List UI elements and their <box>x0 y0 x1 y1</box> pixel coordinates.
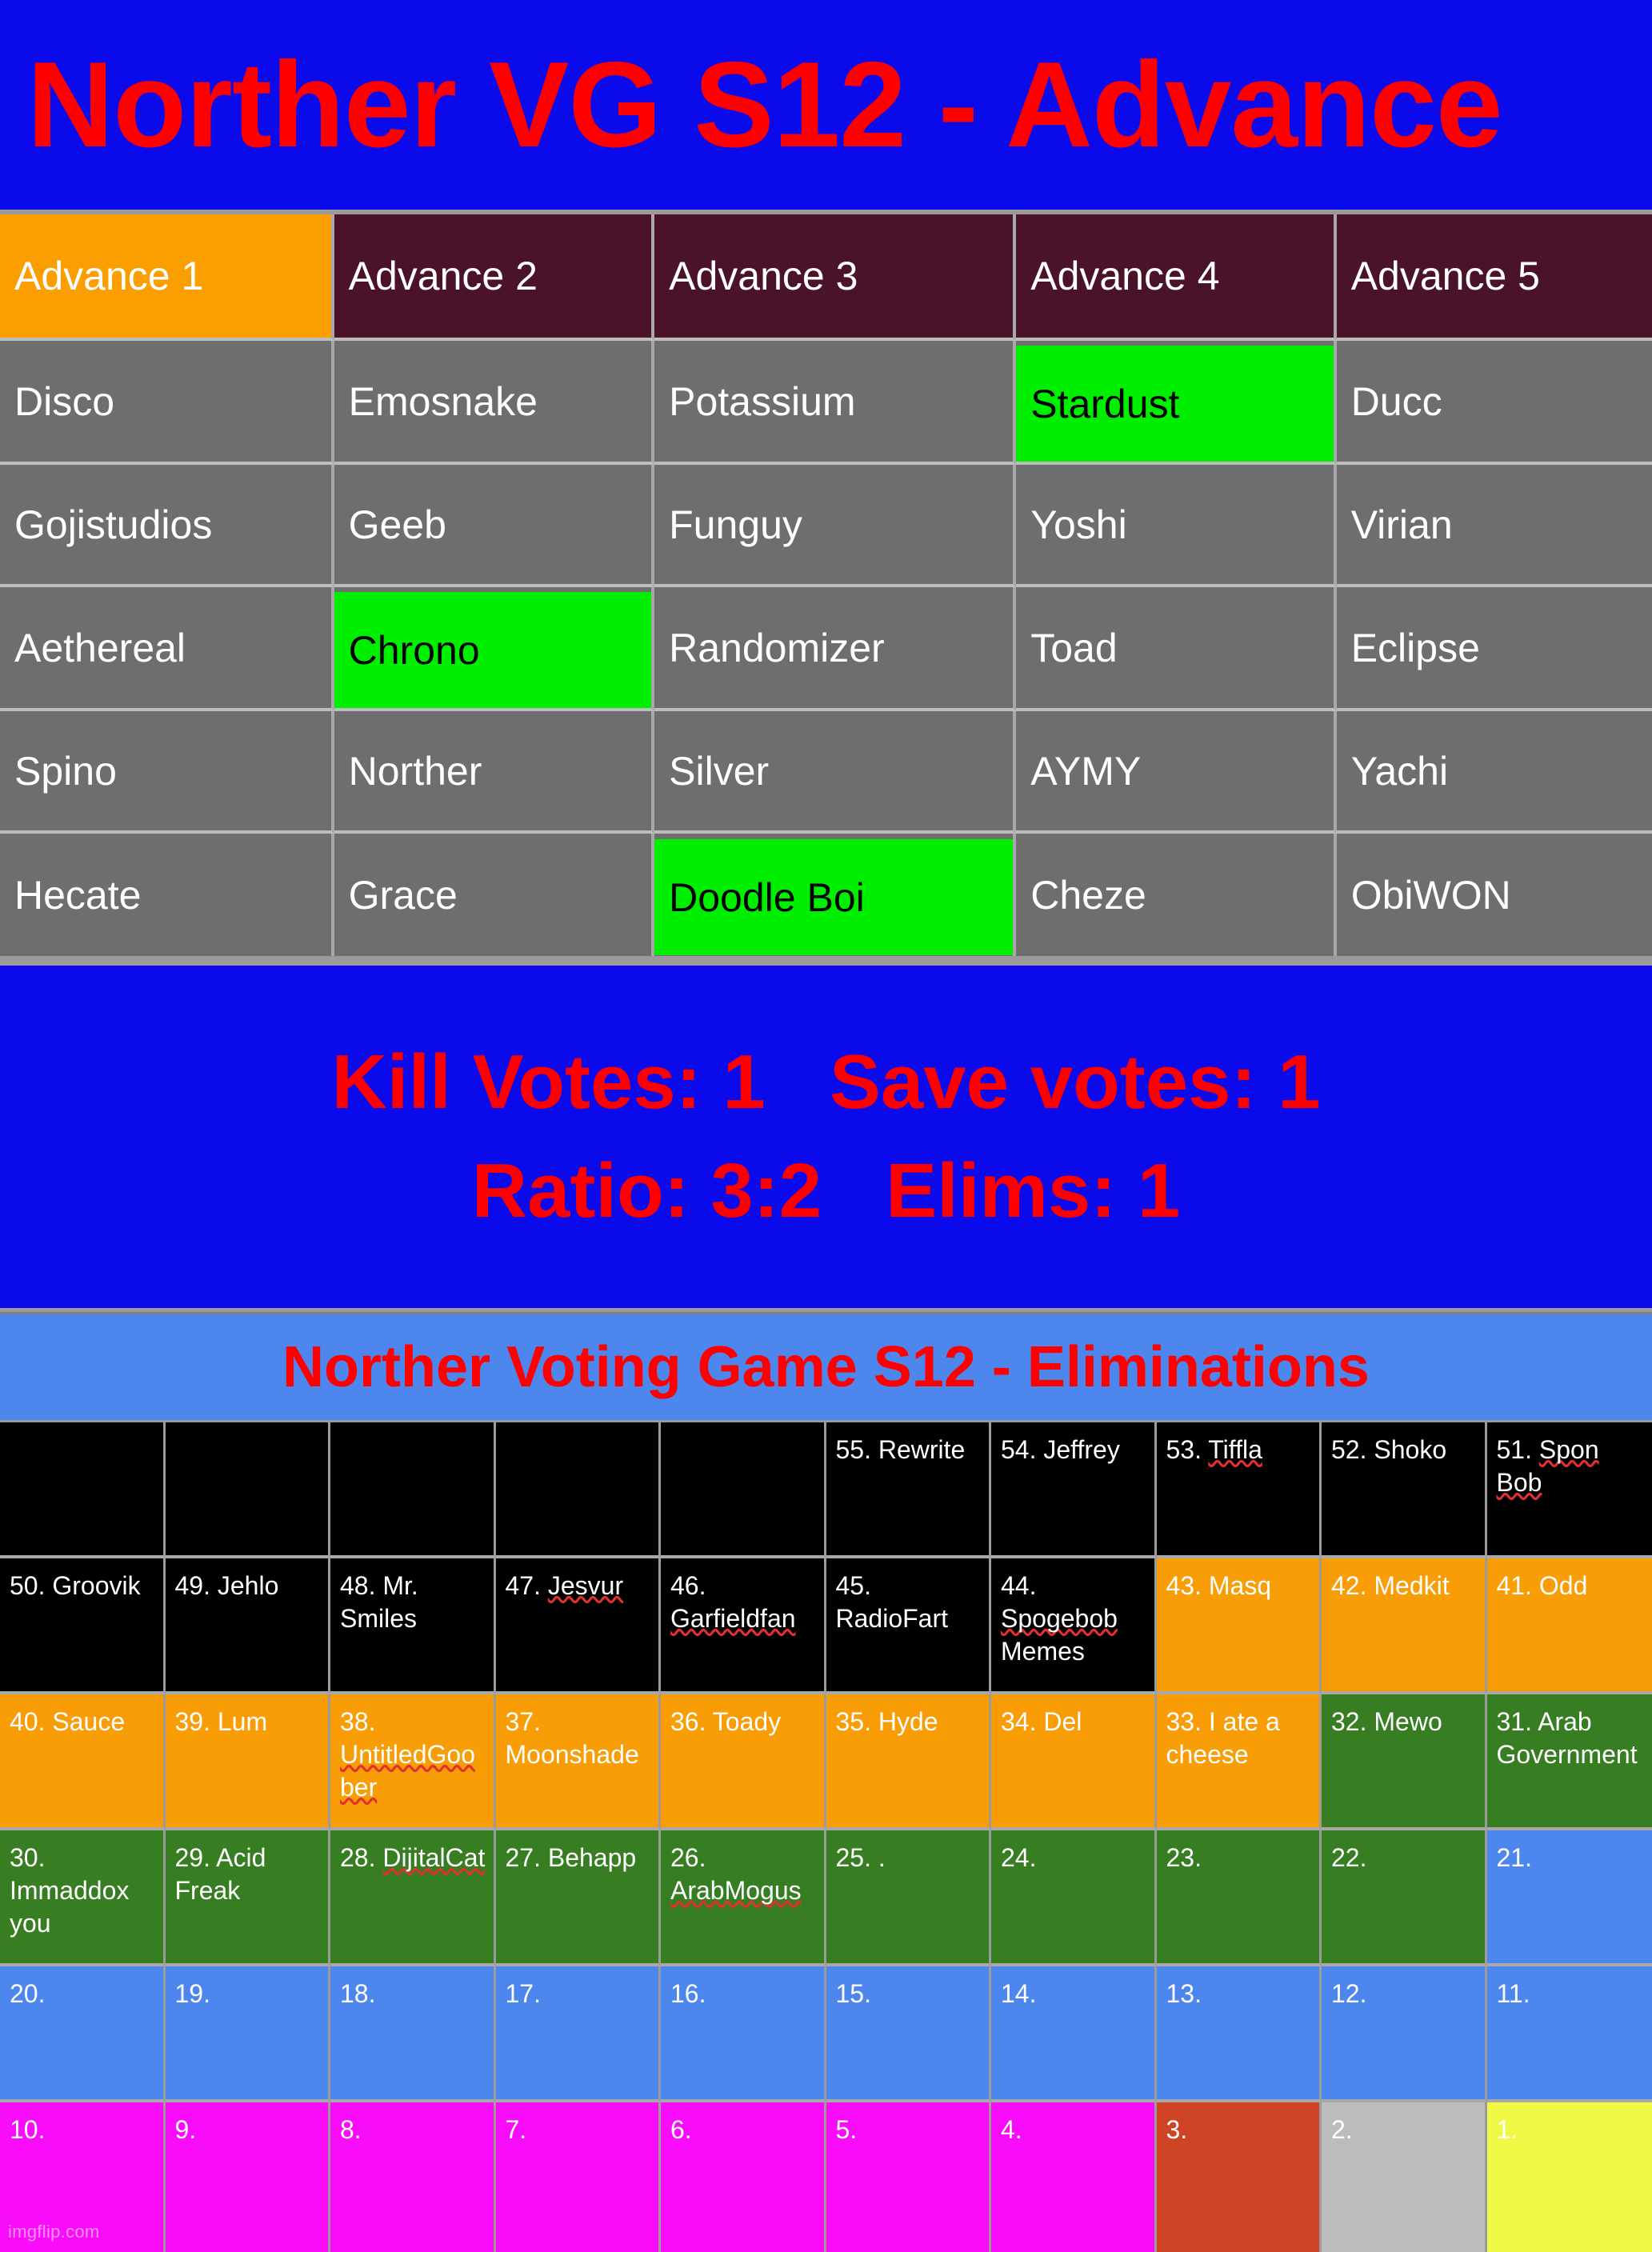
elimination-cell: 52. Shoko <box>1322 1422 1487 1558</box>
eliminations-title: Norther Voting Game S12 - Eliminations <box>282 1338 1370 1396</box>
elimination-cell: 15. <box>826 1966 992 2102</box>
elimination-cell: 35. Hyde <box>826 1694 992 1830</box>
elimination-cell: 1. <box>1487 2102 1652 2252</box>
elimination-cell: 47. Jesvur <box>496 1558 662 1694</box>
advance-row: SpinoNortherSilverAYMYYachi <box>0 711 1652 834</box>
advance-cell-highlighted: Doodle Boi <box>654 834 1016 956</box>
elimination-cell: 28. DijitalCat <box>330 1830 496 1966</box>
spellcheck-underline: DijitalCat <box>382 1843 485 1872</box>
advance-cell: Spino <box>0 711 334 834</box>
advance-column-header-3: Advance 3 <box>654 214 1016 341</box>
advance-cell: Toad <box>1016 587 1336 711</box>
elimination-cell-empty <box>0 1422 166 1558</box>
advance-header-row: Advance 1Advance 2Advance 3Advance 4Adva… <box>0 214 1652 341</box>
elimination-cell: 22. <box>1322 1830 1487 1966</box>
eliminations-grid: 55. Rewrite54. Jeffrey53. Tiffla52. Shok… <box>0 1422 1652 2252</box>
ratio-elims-line: Ratio: 3:2 Elims: 1 <box>472 1137 1181 1246</box>
advance-cell: Silver <box>654 711 1016 834</box>
elimination-cell: 45. RadioFart <box>826 1558 992 1694</box>
elimination-cell: 24. <box>991 1830 1157 1966</box>
imgflip-watermark: imgflip.com <box>8 2222 100 2242</box>
advance-cell: Ducc <box>1337 341 1652 465</box>
stats-banner: Kill Votes: 1 Save votes: 1 Ratio: 3:2 E… <box>0 966 1652 1308</box>
elimination-cell: 34. Del <box>991 1694 1157 1830</box>
advance-cell: Yoshi <box>1016 465 1336 587</box>
elimination-cell: 13. <box>1157 1966 1322 2102</box>
elimination-cell: 29. Acid Freak <box>166 1830 331 1966</box>
advance-cell: Grace <box>334 834 654 956</box>
elimination-cell: 36. Toady <box>661 1694 826 1830</box>
elimination-cell: 3. <box>1157 2102 1322 2252</box>
spellcheck-underline: Tiffla <box>1208 1435 1262 1464</box>
spellcheck-underline: Garfieldfan <box>670 1604 796 1633</box>
elimination-cell: 30. Immaddox you <box>0 1830 166 1966</box>
elimination-cell: 23. <box>1157 1830 1322 1966</box>
advance-cell: Hecate <box>0 834 334 956</box>
elimination-row: 10.9.8.7.6.5.4.3.2.1. <box>0 2102 1652 2252</box>
kill-save-votes-line: Kill Votes: 1 Save votes: 1 <box>331 1028 1320 1137</box>
eliminations-title-banner: Norther Voting Game S12 - Eliminations <box>0 1312 1652 1420</box>
advance-cell: Norther <box>334 711 654 834</box>
elimination-cell: 50. Groovik <box>0 1558 166 1694</box>
spellcheck-underline: Spogebob <box>1001 1604 1118 1633</box>
spellcheck-underline: UntitledGoober <box>340 1740 475 1802</box>
advance-column-header-5: Advance 5 <box>1337 214 1652 341</box>
advance-cell: Virian <box>1337 465 1652 587</box>
elimination-cell: 26. ArabMogus <box>661 1830 826 1966</box>
elimination-row: 20.19.18.17.16.15.14.13.12.11. <box>0 1966 1652 2102</box>
advance-contestant-name: Chrono <box>334 592 651 708</box>
elimination-cell-empty <box>330 1422 496 1558</box>
elimination-cell: 37. Moonshade <box>496 1694 662 1830</box>
advance-row: AetherealChronoRandomizerToadEclipse <box>0 587 1652 711</box>
elimination-cell: 8. <box>330 2102 496 2252</box>
advance-column-header-2: Advance 2 <box>334 214 654 341</box>
elimination-cell: 51. Spon Bob <box>1487 1422 1652 1558</box>
elimination-cell: 38. UntitledGoober <box>330 1694 496 1830</box>
elimination-cell: 12. <box>1322 1966 1487 2102</box>
advance-contestant-name: Stardust <box>1016 346 1333 462</box>
advance-contestant-name: Doodle Boi <box>654 839 1013 955</box>
advance-cell-highlighted: Stardust <box>1016 341 1336 465</box>
elimination-cell-empty <box>661 1422 826 1558</box>
elimination-cell: 44. Spogebob Memes <box>991 1558 1157 1694</box>
advance-cell: Randomizer <box>654 587 1016 711</box>
spellcheck-underline: ArabMogus <box>670 1876 802 1905</box>
advance-row: HecateGraceDoodle BoiChezeObiWON <box>0 834 1652 956</box>
elimination-cell-empty <box>166 1422 331 1558</box>
elimination-cell: 55. Rewrite <box>826 1422 992 1558</box>
elimination-cell: 27. Behapp <box>496 1830 662 1966</box>
elimination-cell: 49. Jehlo <box>166 1558 331 1694</box>
title-banner: Norther VG S12 - Advance <box>0 0 1652 210</box>
advance-row: DiscoEmosnakePotassiumStardustDucc <box>0 341 1652 465</box>
page-title: Norther VG S12 - Advance <box>0 44 1502 166</box>
elimination-cell: 48. Mr. Smiles <box>330 1558 496 1694</box>
advance-cell-highlighted: Chrono <box>334 587 654 711</box>
elimination-row: 30. Immaddox you29. Acid Freak28. Dijita… <box>0 1830 1652 1966</box>
advance-cell: Aethereal <box>0 587 334 711</box>
advance-row: GojistudiosGeebFunguyYoshiVirian <box>0 465 1652 587</box>
advance-cell: Geeb <box>334 465 654 587</box>
elimination-cell: 43. Masq <box>1157 1558 1322 1694</box>
elimination-cell: 16. <box>661 1966 826 2102</box>
elimination-cell: 40. Sauce <box>0 1694 166 1830</box>
advance-cell: Eclipse <box>1337 587 1652 711</box>
advance-cell: Disco <box>0 341 334 465</box>
elimination-cell: 41. Odd <box>1487 1558 1652 1694</box>
elimination-cell: 54. Jeffrey <box>991 1422 1157 1558</box>
elimination-cell: 39. Lum <box>166 1694 331 1830</box>
elimination-cell: 42. Medkit <box>1322 1558 1487 1694</box>
elimination-cell: 32. Mewo <box>1322 1694 1487 1830</box>
advance-cell: Cheze <box>1016 834 1336 956</box>
elimination-row: 40. Sauce39. Lum38. UntitledGoober37. Mo… <box>0 1694 1652 1830</box>
advance-cell: Funguy <box>654 465 1016 587</box>
advance-cell: Gojistudios <box>0 465 334 587</box>
advance-column-header-1: Advance 1 <box>0 214 334 341</box>
advance-cell: Yachi <box>1337 711 1652 834</box>
advance-column-header-4: Advance 4 <box>1016 214 1336 341</box>
elimination-row: 55. Rewrite54. Jeffrey53. Tiffla52. Shok… <box>0 1422 1652 1558</box>
elimination-cell: 4. <box>991 2102 1157 2252</box>
advance-cell: AYMY <box>1016 711 1336 834</box>
elimination-cell: 19. <box>166 1966 331 2102</box>
elimination-cell: 33. I ate a cheese <box>1157 1694 1322 1830</box>
elimination-cell: 17. <box>496 1966 662 2102</box>
meme-page: Norther VG S12 - Advance Advance 1Advanc… <box>0 0 1652 2252</box>
elimination-cell: 31. Arab Government <box>1487 1694 1652 1830</box>
elimination-cell: 14. <box>991 1966 1157 2102</box>
elimination-cell: 25. . <box>826 1830 992 1966</box>
elimination-cell: 46. Garfieldfan <box>661 1558 826 1694</box>
spellcheck-underline: Jesvur <box>548 1571 623 1600</box>
elimination-cell: 21. <box>1487 1830 1652 1966</box>
advance-cell: ObiWON <box>1337 834 1652 956</box>
elimination-cell: 9. <box>166 2102 331 2252</box>
elimination-cell: 20. <box>0 1966 166 2102</box>
advance-cell: Emosnake <box>334 341 654 465</box>
elimination-cell: 18. <box>330 1966 496 2102</box>
elimination-cell: 6. <box>661 2102 826 2252</box>
advance-table: Advance 1Advance 2Advance 3Advance 4Adva… <box>0 214 1652 956</box>
elimination-cell-empty <box>496 1422 662 1558</box>
elimination-cell: 53. Tiffla <box>1157 1422 1322 1558</box>
elimination-cell: 2. <box>1322 2102 1487 2252</box>
elimination-cell: 5. <box>826 2102 992 2252</box>
spellcheck-underline: Spon Bob <box>1497 1435 1599 1497</box>
elimination-row: 50. Groovik49. Jehlo48. Mr. Smiles47. Je… <box>0 1558 1652 1694</box>
advance-cell: Potassium <box>654 341 1016 465</box>
elimination-cell: 7. <box>496 2102 662 2252</box>
elimination-cell: 11. <box>1487 1966 1652 2102</box>
